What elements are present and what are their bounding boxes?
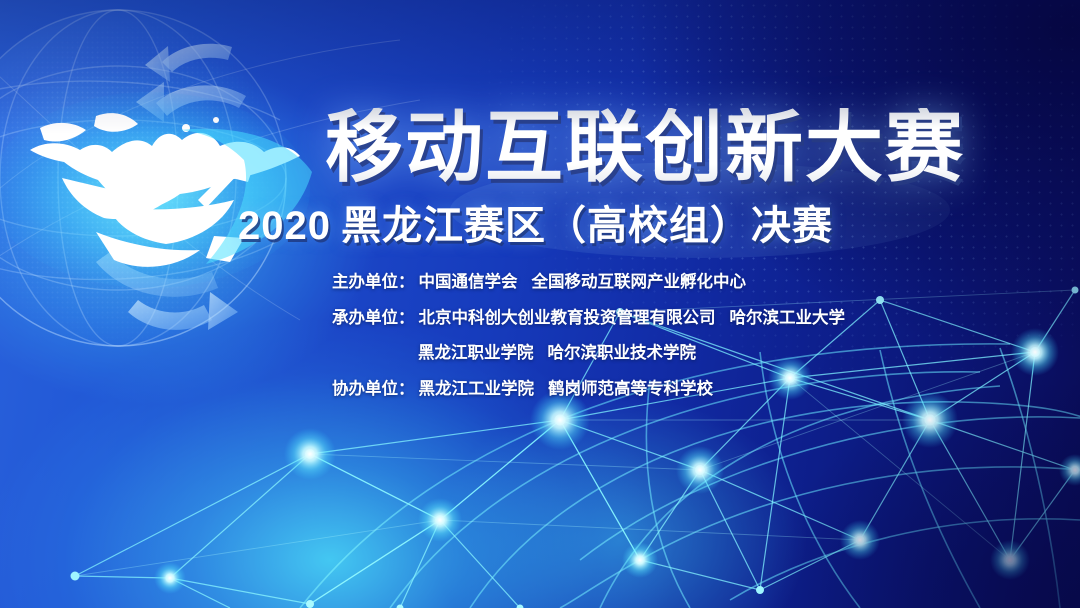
event-banner: 移动互联创新大赛 2020黑龙江赛区（高校组）决赛 主办单位：中国通信学会全国移… (0, 0, 1080, 608)
organizer-block: 主办单位：中国通信学会全国移动互联网产业孵化中心 承办单位：北京中科创大创业教育… (332, 274, 972, 416)
organizer-entry: 哈尔滨工业大学 (730, 309, 846, 327)
organizer-entry: 黑龙江工业学院 (419, 380, 535, 398)
organizer-entry: 北京中科创大创业教育投资管理有限公司 (419, 309, 716, 327)
organizer-line-coorganizer: 承办单位：北京中科创大创业教育投资管理有限公司哈尔滨工业大学 (332, 310, 972, 327)
organizer-entry: 全国移动互联网产业孵化中心 (532, 273, 747, 291)
banner-content: 移动互联创新大赛 2020黑龙江赛区（高校组）决赛 主办单位：中国通信学会全国移… (0, 0, 1080, 608)
organizer-label-coorganizer: 承办单位： (332, 309, 415, 327)
organizer-line-coorganizer-cont: 黑龙江职业学院哈尔滨职业技术学院 (332, 345, 972, 362)
sub-title-year: 2020 (238, 204, 331, 248)
main-title: 移动互联创新大赛 (325, 108, 965, 186)
sub-title: 2020黑龙江赛区（高校组）决赛 (238, 206, 833, 246)
organizer-entry: 哈尔滨职业技术学院 (548, 344, 697, 362)
organizer-label-host: 主办单位： (332, 273, 415, 291)
organizer-line-host: 主办单位：中国通信学会全国移动互联网产业孵化中心 (332, 274, 972, 291)
organizer-entry: 鹤岗师范高等专科学校 (548, 380, 713, 398)
organizer-label-supporter: 协办单位： (332, 380, 415, 398)
organizer-entry: 中国通信学会 (419, 273, 518, 291)
organizer-line-supporter: 协办单位：黑龙江工业学院鹤岗师范高等专科学校 (332, 381, 972, 398)
sub-title-text: 黑龙江赛区（高校组）决赛 (341, 204, 833, 248)
organizer-entry: 黑龙江职业学院 (418, 344, 534, 362)
